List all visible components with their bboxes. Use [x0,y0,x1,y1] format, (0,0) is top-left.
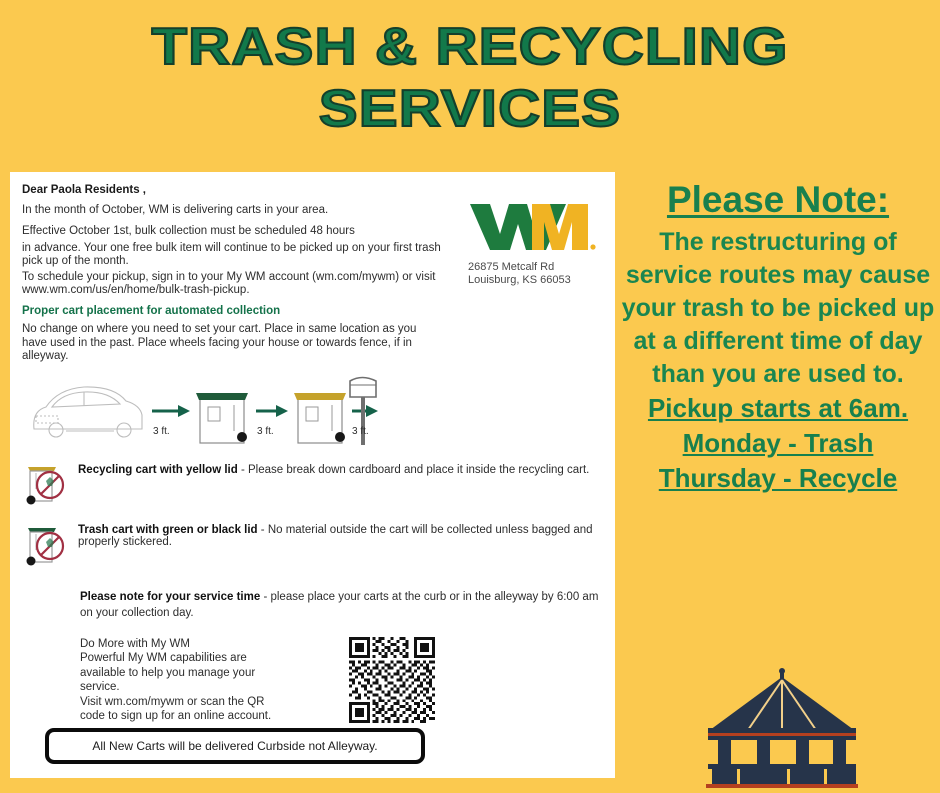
spacing-arrow-2 [256,405,288,417]
letter-paragraph-4: To schedule your pickup, sign in to your… [22,271,452,296]
gap-label-1: 3 ft. [153,426,170,437]
placement-diagram-svg [22,371,382,453]
mywm-line-6: code to sign up for an online account. [80,709,335,724]
curbside-banner: All New Carts will be delivered Curbside… [45,728,425,764]
wm-address-line-2: Louisburg, KS 66053 [468,274,598,287]
poster-canvas: TRASH & RECYCLING SERVICES Dear Paola Re… [0,0,940,788]
mywm-line-3: available to help you manage your [80,666,335,681]
qr-code[interactable] [349,637,435,728]
letter-intro-text: Dear Paola Residents , In the month of O… [22,182,452,300]
letter-top-row: Dear Paola Residents , In the month of O… [22,182,603,300]
cart-placement-diagram: 3 ft. 3 ft. 3 ft. [22,371,603,453]
recycling-cart-bullet-bold: Recycling cart with yellow lid [78,464,238,476]
poster-header: TRASH & RECYCLING SERVICES [0,16,940,140]
letter-paragraph-1: In the month of October, WM is deliverin… [22,203,452,217]
qr-code-icon [349,637,435,723]
service-time-note: Please note for your service time - plea… [80,589,603,621]
wm-logo-block: 26875 Metcalf Rd Louisburg, KS 66053 [468,182,598,287]
wm-address: 26875 Metcalf Rd Louisburg, KS 66053 [468,261,598,287]
poster-title-line-1: TRASH & RECYCLING [0,16,940,78]
please-note-body: The restructuring of service routes may … [616,226,940,391]
schedule-thursday-recycle: Thursday - Recycle [616,461,940,496]
mywm-line-2: Powerful My WM capabilities are [80,651,335,666]
recycling-cart-yellow-lid-icon [294,393,346,443]
cart-placement-text: No change on where you need to set your … [22,323,442,364]
gap-label-2: 3 ft. [257,426,274,437]
letter-paragraph-3: in advance. Your one free bulk item will… [22,242,452,267]
mywm-line-4: service. [80,680,335,695]
car-icon [34,386,142,436]
mailbox-icon [344,373,384,449]
mywm-line-1: Do More with My WM [80,637,335,652]
letter-paragraph-2: Effective October 1st, bulk collection m… [22,224,452,238]
please-note-title: Please Note: [616,178,940,222]
curbside-banner-text: All New Carts will be delivered Curbside… [92,739,377,753]
trash-cart-bullet-bold: Trash cart with green or black lid [78,524,258,536]
schedule-monday-trash: Monday - Trash [616,426,940,461]
service-time-bold: Please note for your service time [80,591,260,603]
letter-salutation: Dear Paola Residents , [22,184,452,196]
recycling-cart-no-overflow-icon [22,459,78,514]
recycling-cart-bullet-text: Recycling cart with yellow lid - Please … [78,459,589,477]
mywm-text: Do More with My WM Powerful My WM capabi… [80,637,335,724]
please-note-panel: Please Note: The restructuring of servic… [616,178,940,496]
recycling-cart-bullet: Recycling cart with yellow lid - Please … [22,459,603,514]
poster-title-line-2: SERVICES [0,78,940,140]
cart-placement-heading: Proper cart placement for automated coll… [22,305,603,317]
trash-cart-no-overflow-icon [22,520,78,575]
trash-cart-bullet-text: Trash cart with green or black lid - No … [78,520,603,549]
wm-letter-panel: Dear Paola Residents , In the month of O… [10,172,615,778]
wm-address-line-1: 26875 Metcalf Rd [468,261,598,274]
recycling-cart-bullet-rest: - Please break down cardboard and place … [238,464,590,476]
trash-cart-green-lid-icon [196,393,248,443]
gazebo-icon [704,668,860,788]
trash-cart-bullet: Trash cart with green or black lid - No … [22,520,603,575]
spacing-arrow-1 [152,405,190,417]
gap-label-3: 3 ft. [352,426,369,437]
mywm-row: Do More with My WM Powerful My WM capabi… [80,637,603,728]
city-gazebo-logo [704,668,860,793]
mywm-line-5: Visit wm.com/mywm or scan the QR [80,695,335,710]
pickup-time-text: Pickup starts at 6am. [616,391,940,426]
wm-logo-icon [468,200,598,252]
